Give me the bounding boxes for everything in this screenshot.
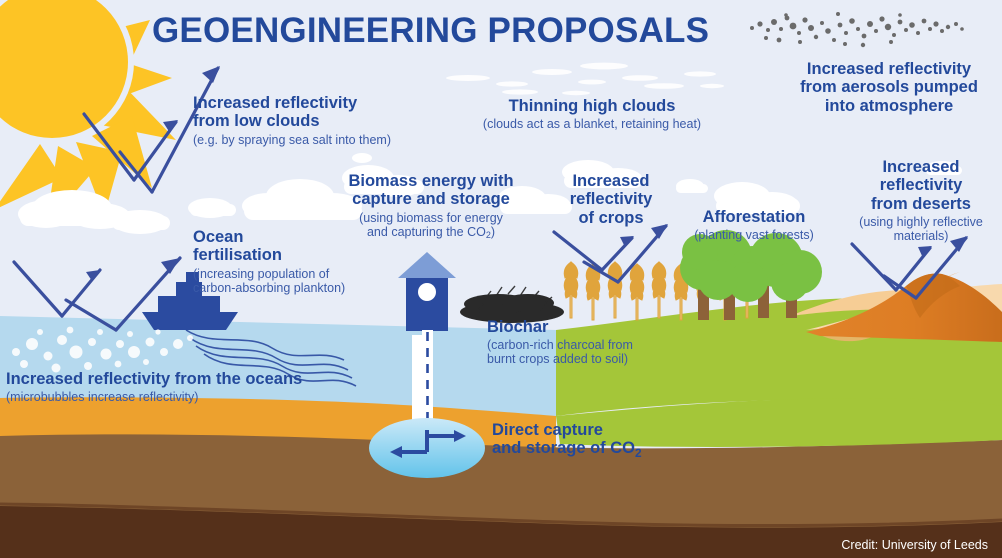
label-ocean-reflectivity-title: Increased reflectivity from the oceans <box>6 370 336 388</box>
label-low-clouds: Increased reflectivityfrom low clouds (e… <box>193 94 493 147</box>
label-ocean-fertilisation-sub: (increasing population ofcarbon-absorbin… <box>193 267 353 295</box>
label-crops-reflectivity: Increasedreflectivityof crops <box>546 172 676 227</box>
label-ocean-reflectivity-sub: (microbubbles increase reflectivity) <box>6 390 336 404</box>
co2-reservoir-icon <box>369 418 485 478</box>
label-thinning-high-clouds-title: Thinning high clouds <box>462 97 722 115</box>
label-aerosols: Increased reflectivityfrom aerosols pump… <box>782 60 996 115</box>
label-biomass-energy: Biomass energy withcapture and storage (… <box>334 172 528 239</box>
label-ocean-fertilisation-title: Oceanfertilisation <box>193 228 353 265</box>
label-ocean-reflectivity: Increased reflectivity from the oceans (… <box>6 370 336 404</box>
label-deserts-reflectivity: Increasedreflectivityfrom deserts (using… <box>848 158 994 243</box>
label-thinning-high-clouds-sub: (clouds act as a blanket, retaining heat… <box>462 117 722 131</box>
label-biochar-title: Biochar <box>487 318 707 336</box>
label-low-clouds-title: Increased reflectivityfrom low clouds <box>193 94 493 131</box>
label-crops-reflectivity-title: Increasedreflectivityof crops <box>546 172 676 227</box>
label-biochar: Biochar (carbon-rich charcoal fromburnt … <box>487 318 707 366</box>
label-afforestation: Afforestation (planting vast forests) <box>670 208 838 242</box>
label-biochar-sub: (carbon-rich charcoal fromburnt crops ad… <box>487 338 707 366</box>
label-thinning-high-clouds: Thinning high clouds (clouds act as a bl… <box>462 97 722 131</box>
label-direct-capture-title: Direct captureand storage of CO2 <box>492 421 722 458</box>
label-low-clouds-sub: (e.g. by spraying sea salt into them) <box>193 133 493 147</box>
infographic-canvas: GEOENGINEERING PROPOSALS Increased refle… <box>0 0 1002 558</box>
label-ocean-fertilisation: Oceanfertilisation (increasing populatio… <box>193 228 353 295</box>
credit-line: Credit: University of Leeds <box>841 538 988 552</box>
label-afforestation-title: Afforestation <box>670 208 838 226</box>
label-deserts-reflectivity-title: Increasedreflectivityfrom deserts <box>848 158 994 213</box>
label-biomass-energy-title: Biomass energy withcapture and storage <box>334 172 528 209</box>
label-afforestation-sub: (planting vast forests) <box>670 228 838 242</box>
label-aerosols-title: Increased reflectivityfrom aerosols pump… <box>782 60 996 115</box>
page-title: GEOENGINEERING PROPOSALS <box>152 11 709 51</box>
label-direct-capture: Direct captureand storage of CO2 <box>492 421 722 458</box>
label-biomass-energy-sub: (using biomass for energyand capturing t… <box>334 211 528 239</box>
label-deserts-reflectivity-sub: (using highly reflectivematerials) <box>848 215 994 243</box>
